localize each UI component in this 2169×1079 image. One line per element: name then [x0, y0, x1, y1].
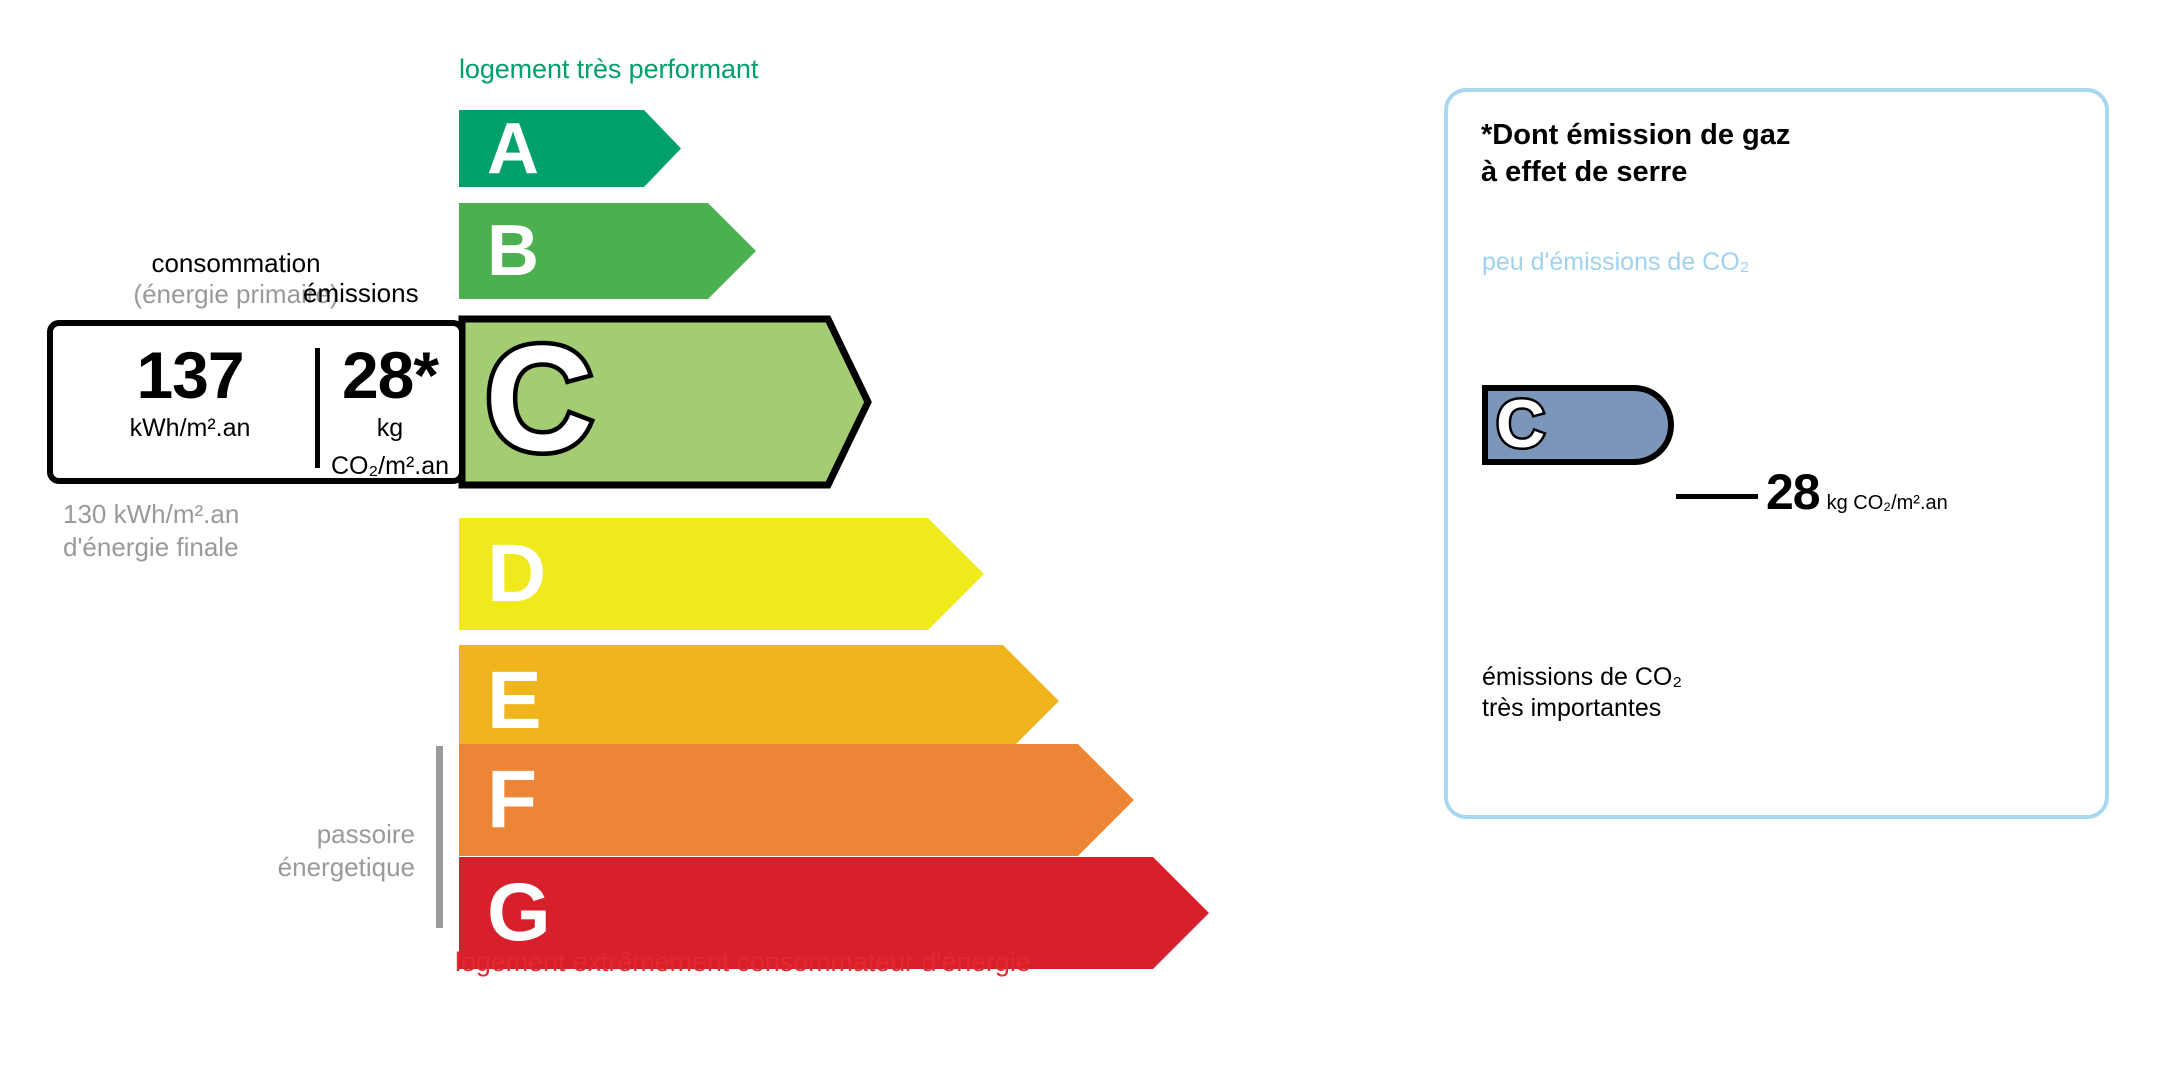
svg-text:E: E: [487, 655, 542, 746]
passoire-label-line2: énergetique: [200, 851, 415, 884]
energy-band-g-letter: G: [487, 874, 563, 952]
ges-bar-d: D: [1482, 469, 1716, 514]
ges-bar-f-letter: F: [1496, 573, 1526, 607]
ges-bar-b: B: [1482, 337, 1630, 382]
ges-panel: *Dont émission de gaz à effet de serre p…: [1444, 88, 2109, 819]
emissions-value: 28*: [320, 342, 460, 408]
ges-bar-d-letter: D: [1496, 475, 1526, 509]
ges-value-readout: 28kg CO₂/m².an: [1766, 463, 1948, 521]
energy-band-d-letter: D: [487, 535, 557, 613]
ges-bar-g: G: [1482, 616, 1830, 661]
consumption-unit: kWh/m².an: [65, 410, 315, 448]
passoire-label-line1: passoire: [200, 818, 415, 851]
ges-value-unit: kg CO₂/m².an: [1827, 492, 1948, 514]
ges-bottom-caption-line1: émissions de CO₂: [1482, 662, 1682, 693]
passoire-marker-bar: [436, 746, 443, 928]
final-energy-value: 130 kWh/m².an: [63, 498, 239, 531]
dpe-energy-panel: logement très performant A B: [0, 0, 1400, 1079]
energy-band-a: A: [459, 110, 681, 187]
consumption-value-cell: 137 kWh/m².an: [65, 342, 315, 448]
ges-title-line2: à effet de serre: [1481, 154, 1790, 191]
energy-band-d: D: [459, 518, 984, 630]
final-energy-label: d'énergie finale: [63, 531, 239, 564]
ges-title: *Dont émission de gaz à effet de serre: [1481, 117, 1790, 191]
ges-bar-c-selected: C: [1482, 385, 1676, 465]
svg-text:F: F: [487, 754, 537, 845]
ges-bar-g-letter: G: [1496, 622, 1528, 656]
svg-text:F: F: [1496, 569, 1518, 610]
ges-bottom-caption: émissions de CO₂ très importantes: [1482, 662, 1682, 725]
svg-text:E: E: [1496, 520, 1520, 561]
svg-text:C: C: [1496, 386, 1545, 462]
ges-top-caption: peu d'émissions de CO₂: [1482, 248, 1749, 277]
energy-band-f: F: [459, 744, 1134, 856]
svg-text:G: G: [487, 867, 551, 958]
ges-bottom-caption-line2: très importantes: [1482, 693, 1682, 724]
ges-title-line1: *Dont émission de gaz: [1481, 117, 1790, 154]
ges-bar-e: E: [1482, 518, 1754, 563]
ges-leader-line: [1676, 494, 1758, 499]
svg-text:D: D: [1496, 471, 1522, 512]
ges-bar-b-letter: B: [1496, 343, 1526, 377]
svg-text:A: A: [487, 109, 539, 189]
emissions-header: émissions: [303, 278, 419, 309]
ges-value-number: 28: [1766, 464, 1820, 520]
energy-band-c-selected: C: [459, 316, 871, 488]
svg-text:C: C: [485, 314, 593, 482]
consumption-header-main: consommation: [151, 248, 320, 278]
energy-band-b: B: [459, 203, 756, 299]
ges-bar-a: A: [1482, 288, 1592, 333]
ges-bar-a-letter: A: [1496, 294, 1526, 328]
emissions-unit: kg CO₂/m².an: [320, 410, 460, 485]
passoire-label: passoire énergetique: [200, 818, 415, 884]
energy-value-box: 137 kWh/m².an 28* kg CO₂/m².an: [47, 320, 465, 484]
final-energy-note: 130 kWh/m².an d'énergie finale: [63, 498, 239, 564]
energy-top-caption: logement très performant: [459, 54, 758, 85]
energy-band-e-letter: E: [487, 662, 557, 740]
svg-text:D: D: [487, 528, 546, 619]
energy-band-f-shape: [459, 744, 1134, 856]
energy-band-e: E: [459, 645, 1059, 757]
svg-text:B: B: [1496, 339, 1522, 380]
energy-bottom-caption: logement extrêmement consommateur d'éner…: [455, 947, 1031, 978]
emissions-value-cell: 28* kg CO₂/m².an: [320, 342, 460, 485]
energy-band-c-letter: C: [481, 332, 601, 472]
energy-band-b-letter: B: [487, 217, 549, 285]
energy-band-f-letter: F: [487, 761, 557, 839]
consumption-value: 137: [65, 342, 315, 408]
svg-text:B: B: [487, 211, 539, 291]
ges-bar-f: F: [1482, 567, 1792, 612]
ges-bar-e-letter: E: [1496, 524, 1526, 558]
svg-text:G: G: [1496, 618, 1524, 659]
svg-text:A: A: [1496, 290, 1522, 331]
energy-band-a-letter: A: [487, 115, 549, 183]
